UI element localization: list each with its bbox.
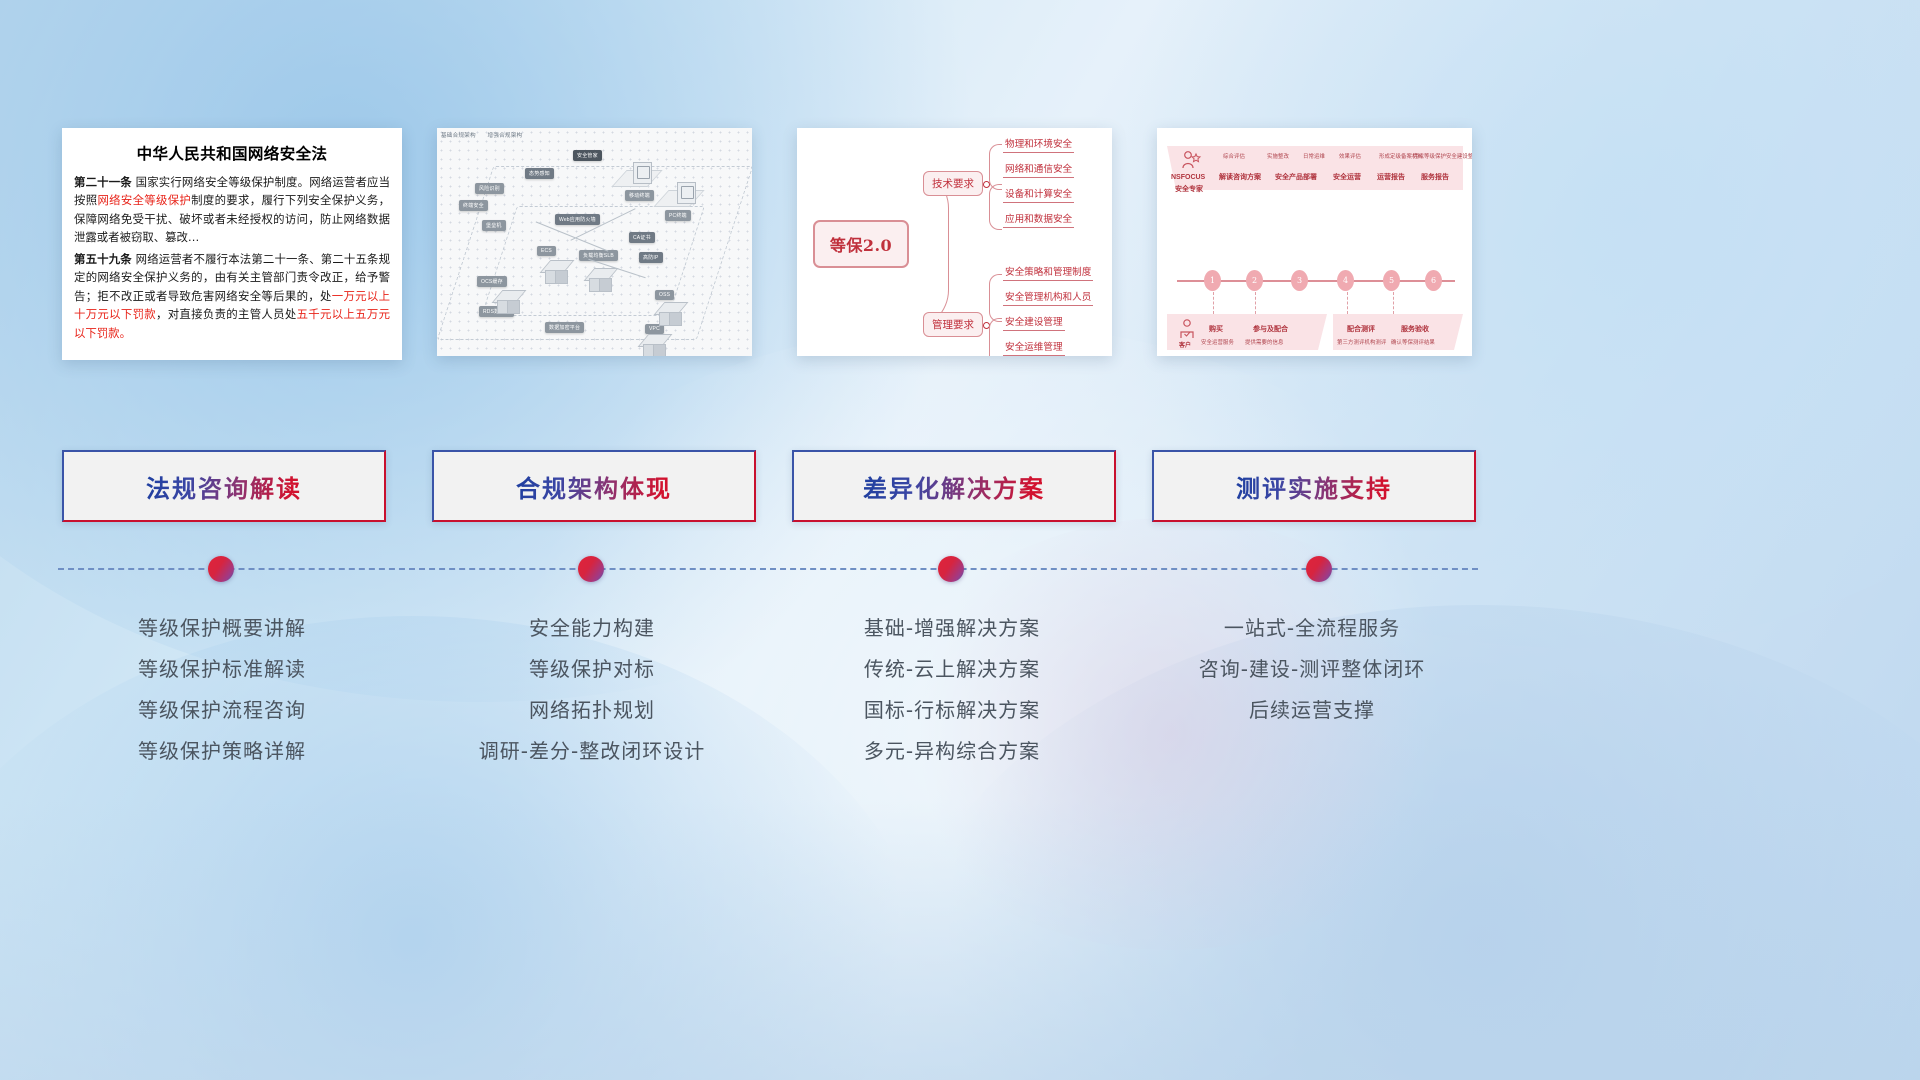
process-leader-line	[1213, 292, 1214, 314]
process-bottom-step-1[interactable]: 参与及配合	[1253, 324, 1288, 334]
list-item: 等级保护概要讲解	[42, 608, 402, 649]
arch-node-数据加密平台[interactable]: 数据加密平台	[545, 322, 584, 333]
mindmap-bracket	[989, 274, 1002, 322]
mindmap-leaf-物理和环境安全[interactable]: 物理和环境安全	[1003, 136, 1074, 153]
process-role-actor: 客户	[1179, 340, 1191, 349]
arch-node-风险识别[interactable]: 风险识别	[475, 183, 504, 194]
timeline-dot-1[interactable]	[208, 556, 234, 582]
process-top-note-6: 完成等级保护安全建设整改	[1413, 152, 1472, 160]
list-item: 安全能力构建	[412, 608, 772, 649]
arch-node-ca证书[interactable]: CA证书	[629, 232, 655, 243]
security-expert-icon	[1179, 150, 1203, 172]
section-label-box-1[interactable]: 法规咨询解读	[62, 450, 386, 522]
list-item: 国标-行标解决方案	[772, 690, 1132, 731]
process-top-step-0[interactable]: 解读咨询方案	[1219, 172, 1261, 182]
process-bottom-desc-1: 提供需要的信息	[1245, 338, 1283, 346]
law-text: ，对直接负责的主管人员处	[156, 307, 297, 321]
mindmap-branch-管理要求[interactable]: 管理要求	[923, 312, 983, 337]
section-label-box-4[interactable]: 测评实施支持	[1152, 450, 1476, 522]
section-label-text-4: 测评实施支持	[1236, 469, 1392, 504]
timeline-dot-3[interactable]	[938, 556, 964, 582]
law-article-number: 第二十一条	[74, 175, 132, 189]
process-leader-line	[1255, 292, 1256, 314]
process-bottom-desc-3: 确认等保测评结果	[1391, 338, 1435, 346]
timeline-dot-2[interactable]	[578, 556, 604, 582]
arch-node-ocs缓存[interactable]: OCS缓存	[477, 276, 507, 287]
list-item: 后续运营支撑	[1132, 690, 1492, 731]
tag-enhanced-架构: 增强合规架构	[488, 133, 523, 139]
list-item: 多元-异构综合方案	[772, 731, 1132, 772]
section-label-text-1: 法规咨询解读	[146, 469, 302, 504]
mindmap-bracket	[989, 318, 1002, 356]
arch-node-oss[interactable]: OSS	[655, 290, 674, 300]
process-step-number-1[interactable]: 1	[1204, 270, 1221, 291]
customer-icon	[1179, 318, 1199, 340]
process-bottom-desc-0: 安全运营服务	[1201, 338, 1234, 346]
process-top-note-3: 效果评估	[1339, 152, 1361, 160]
mindmap-card[interactable]: 等保2.0 技术要求 管理要求 物理和环境安全 网络和通信安全 设备和计算安全 …	[797, 128, 1112, 356]
bullet-column-1: 等级保护概要讲解 等级保护标准解读 等级保护流程咨询 等级保护策略详解	[42, 608, 402, 772]
architecture-header-tags: 基础合规架构 增强合规架构	[441, 131, 532, 139]
arch-node-安全管家[interactable]: 安全管家	[573, 150, 602, 161]
arch-node-负载均衡slb[interactable]: 负载均衡SLB	[579, 250, 618, 261]
process-top-note-1: 实施整改	[1267, 152, 1289, 160]
list-item: 等级保护流程咨询	[42, 690, 402, 731]
process-step-number-2[interactable]: 2	[1246, 270, 1263, 291]
list-item: 等级保护对标	[412, 649, 772, 690]
process-bottom-step-2[interactable]: 配合测评	[1347, 324, 1375, 334]
arch-device-icon	[677, 182, 696, 204]
process-bottom-step-0[interactable]: 购买	[1209, 324, 1223, 334]
process-top-step-4[interactable]: 服务报告	[1421, 172, 1449, 182]
mindmap-branch-技术要求[interactable]: 技术要求	[923, 171, 983, 196]
law-card[interactable]: 中华人民共和国网络安全法 第二十一条 国家实行网络安全等级保护制度。网络运营者应…	[62, 128, 402, 360]
list-item: 一站式-全流程服务	[1132, 608, 1492, 649]
list-item: 咨询-建设-测评整体闭环	[1132, 649, 1492, 690]
section-label-box-2[interactable]: 合规架构体现	[432, 450, 756, 522]
mindmap-leaf-安全策略和管理制度[interactable]: 安全策略和管理制度	[1003, 264, 1093, 281]
law-paragraph-21: 第二十一条 国家实行网络安全等级保护制度。网络运营者应当按照网络安全等级保护制度…	[74, 173, 390, 247]
arch-node-高防ip[interactable]: 高防IP	[639, 252, 663, 263]
timeline-axis	[58, 568, 1478, 570]
bullet-column-3: 基础-增强解决方案 传统-云上解决方案 国标-行标解决方案 多元-异构综合方案	[772, 608, 1132, 772]
bullet-column-2: 安全能力构建 等级保护对标 网络拓扑规划 调研-差分-整改闭环设计	[412, 608, 772, 772]
arch-device-icon	[633, 162, 652, 184]
process-top-note-0: 综合评估	[1223, 152, 1245, 160]
law-paragraph-59: 第五十九条 网络运营者不履行本法第二十一条、第二十五条规定的网络安全保护义务的，…	[74, 250, 390, 342]
mindmap-leaf-安全运维管理[interactable]: 安全运维管理	[1003, 339, 1065, 356]
process-top-note-2: 日常运维	[1303, 152, 1325, 160]
list-item: 等级保护策略详解	[42, 731, 402, 772]
arch-node-ecs[interactable]: ECS	[537, 246, 556, 256]
section-label-text-2: 合规架构体现	[516, 469, 672, 504]
tag-basic-架构: 基础合规架构	[441, 133, 476, 139]
mindmap-leaf-网络和通信安全[interactable]: 网络和通信安全	[1003, 161, 1074, 178]
arch-node-web应用防火墙[interactable]: Web应用防火墙	[555, 214, 600, 225]
list-item: 传统-云上解决方案	[772, 649, 1132, 690]
law-card-title: 中华人民共和国网络安全法	[74, 142, 390, 164]
process-bottom-step-3[interactable]: 服务验收	[1401, 324, 1429, 334]
list-item: 基础-增强解决方案	[772, 608, 1132, 649]
process-brand: NSFOCUS	[1171, 174, 1205, 181]
arch-node-pc终端[interactable]: PC终端	[665, 210, 691, 221]
process-bottom-desc-2: 第三方测评机构测评	[1337, 338, 1386, 346]
list-item: 等级保护标准解读	[42, 649, 402, 690]
process-top-step-3[interactable]: 运营报告	[1377, 172, 1405, 182]
process-leader-line	[1347, 292, 1348, 314]
arch-node-堡垒机[interactable]: 堡垒机	[482, 220, 506, 231]
arch-node-移动终端[interactable]: 移动终端	[625, 190, 654, 201]
bullet-column-4: 一站式-全流程服务 咨询-建设-测评整体闭环 后续运营支撑	[1132, 608, 1492, 731]
mindmap-leaf-安全建设管理[interactable]: 安全建设管理	[1003, 314, 1065, 331]
process-brand-sub: 安全专家	[1175, 184, 1203, 194]
process-top-step-1[interactable]: 安全产品部署	[1275, 172, 1317, 182]
law-text-highlight: 网络安全等级保护	[97, 193, 191, 207]
mindmap-leaf-应用和数据安全[interactable]: 应用和数据安全	[1003, 211, 1074, 228]
architecture-card[interactable]: 基础合规架构 增强合规架构 安全管家 态势感知 风险识别 终端安全 堡垒机 We…	[437, 128, 752, 356]
process-card[interactable]: NSFOCUS 安全专家 综合评估 实施整改 日常运维 效果评估 形成定级备案材…	[1157, 128, 1472, 356]
law-article-number: 第五十九条	[74, 252, 132, 266]
process-step-number-3[interactable]: 3	[1291, 270, 1308, 291]
process-top-step-2[interactable]: 安全运营	[1333, 172, 1361, 182]
mindmap-leaf-安全管理机构和人员[interactable]: 安全管理机构和人员	[1003, 289, 1093, 306]
arch-node-终端安全[interactable]: 终端安全	[459, 200, 488, 211]
section-label-text-3: 差异化解决方案	[863, 469, 1045, 504]
section-label-box-3[interactable]: 差异化解决方案	[792, 450, 1116, 522]
process-step-number-6[interactable]: 6	[1425, 270, 1442, 291]
mindmap-bracket	[989, 184, 1002, 230]
timeline-dot-4[interactable]	[1306, 556, 1332, 582]
list-item: 网络拓扑规划	[412, 690, 772, 731]
mindmap-root[interactable]: 等保2.0	[813, 220, 909, 268]
process-step-number-4[interactable]: 4	[1337, 270, 1354, 291]
arch-node-态势感知[interactable]: 态势感知	[525, 168, 554, 179]
list-item: 调研-差分-整改闭环设计	[412, 731, 772, 772]
process-leader-line	[1393, 292, 1394, 314]
mindmap-leaf-设备和计算安全[interactable]: 设备和计算安全	[1003, 186, 1074, 203]
process-step-number-5[interactable]: 5	[1383, 270, 1400, 291]
